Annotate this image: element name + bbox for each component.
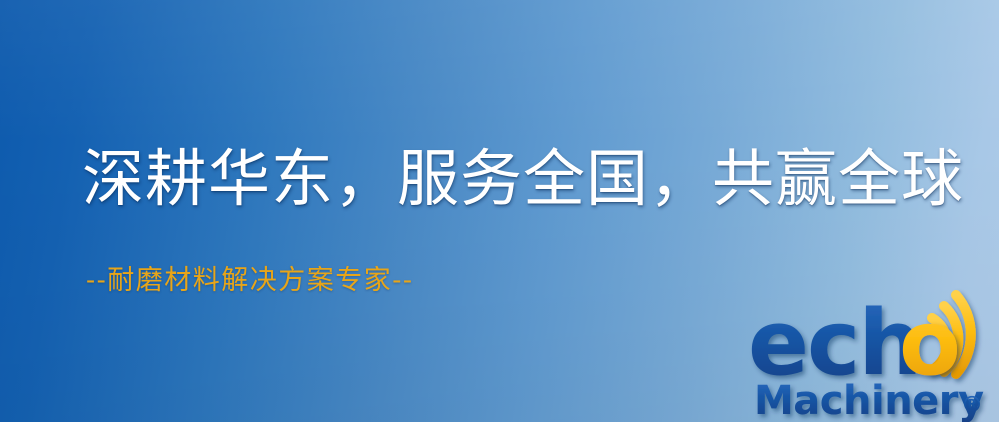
logo-registered-mark: ® <box>961 393 983 418</box>
promo-banner: 深耕华东，服务全国，共赢全球 --耐磨材料解决方案专家-- <box>0 0 999 422</box>
page-title: 深耕华东，服务全国，共赢全球 <box>82 148 964 210</box>
logo-tagline: Machinery <box>754 378 984 422</box>
banner-subtitle: --耐磨材料解决方案专家-- <box>86 267 414 294</box>
echo-machinery-logo: ech o Machinery ® <box>748 292 999 422</box>
